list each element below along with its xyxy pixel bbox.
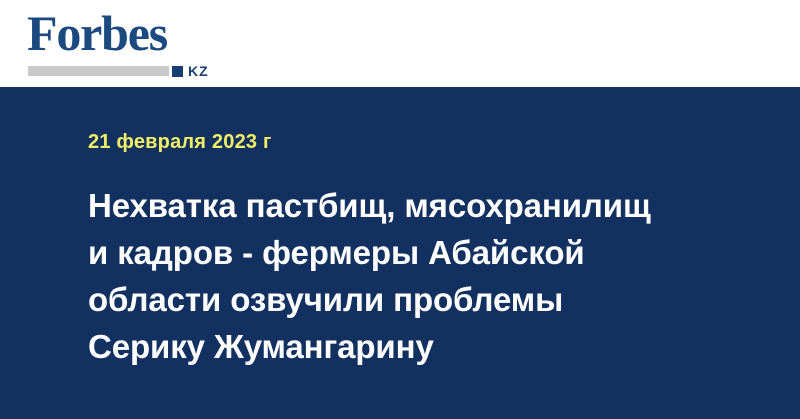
horizontal-rule-icon xyxy=(28,66,169,76)
forbes-kz-logo[interactable]: Forbes KZ xyxy=(27,8,227,80)
page-title: Нехватка пастбищ, мясохранилищ и кадров … xyxy=(88,182,668,370)
logo-suffix-kz: KZ xyxy=(188,64,209,78)
square-bullet-icon xyxy=(172,66,183,77)
article-date: 21 февраля 2023 г xyxy=(88,130,272,154)
site-header: Forbes KZ xyxy=(0,0,800,87)
article-card: Forbes KZ 21 февраля 2023 г Нехватка пас… xyxy=(0,0,800,419)
logo-wordmark: Forbes xyxy=(27,8,167,58)
article-panel: 21 февраля 2023 г Нехватка пастбищ, мясо… xyxy=(0,87,800,419)
